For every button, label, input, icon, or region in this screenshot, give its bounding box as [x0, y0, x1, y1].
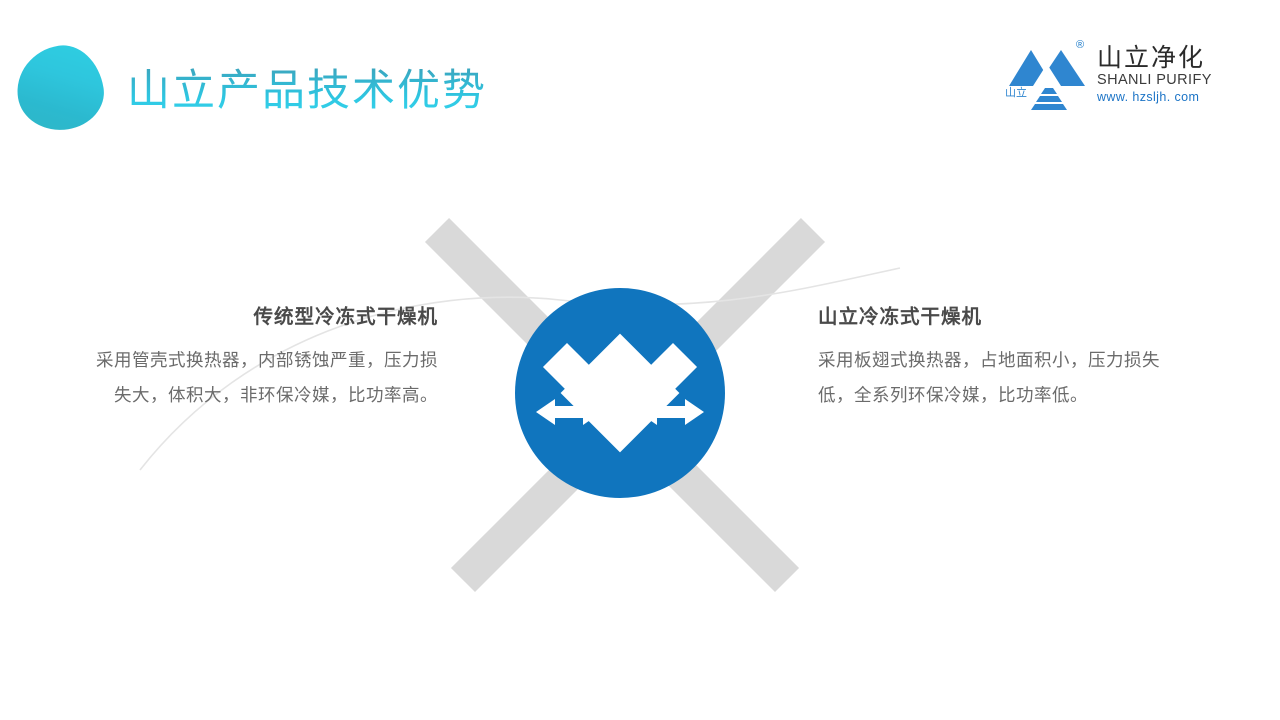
registered-mark: ® [1076, 40, 1084, 51]
brand-name-en: SHANLI PURIFY [1097, 72, 1227, 89]
mountain-logo-icon [1005, 42, 1091, 112]
logo-caption: 山立 [1005, 87, 1027, 99]
slide-canvas: 山立产品技术优势 ® 山立 山立净化 SHANLI PURIFY www. hz… [0, 0, 1280, 720]
page-title: 山立产品技术优势 [127, 62, 487, 120]
slide-header: 山立产品技术优势 ® 山立 山立净化 SHANLI PURIFY www. hz… [0, 0, 1280, 150]
column-body-shanli: 采用板翅式换热器，占地面积小，压力损失低，全系列环保冷媒，比功率低。 [818, 344, 1168, 414]
column-body-traditional: 采用管壳式换热器，内部锈蚀严重，压力损失大，体积大，非环保冷媒，比功率高。 [88, 344, 438, 414]
comparison-column-traditional: 传统型冷冻式干燥机 采用管壳式换热器，内部锈蚀严重，压力损失大，体积大，非环保冷… [88, 303, 438, 414]
column-title-traditional: 传统型冷冻式干燥机 [88, 303, 438, 331]
logo-text-block: 山立净化 SHANLI PURIFY www. hzsljh. com [1097, 44, 1227, 105]
center-circle [515, 288, 725, 498]
brand-website: www. hzsljh. com [1097, 89, 1227, 105]
decor-blob-icon [11, 40, 109, 136]
comparison-column-shanli: 山立冷冻式干燥机 采用板翅式换热器，占地面积小，压力损失低，全系列环保冷媒，比功… [818, 303, 1168, 414]
brand-logo[interactable]: ® 山立 山立净化 SHANLI PURIFY www. hzsljh. com [1005, 42, 1225, 120]
column-title-shanli: 山立冷冻式干燥机 [818, 303, 1168, 331]
brand-name-cn: 山立净化 [1097, 44, 1227, 72]
